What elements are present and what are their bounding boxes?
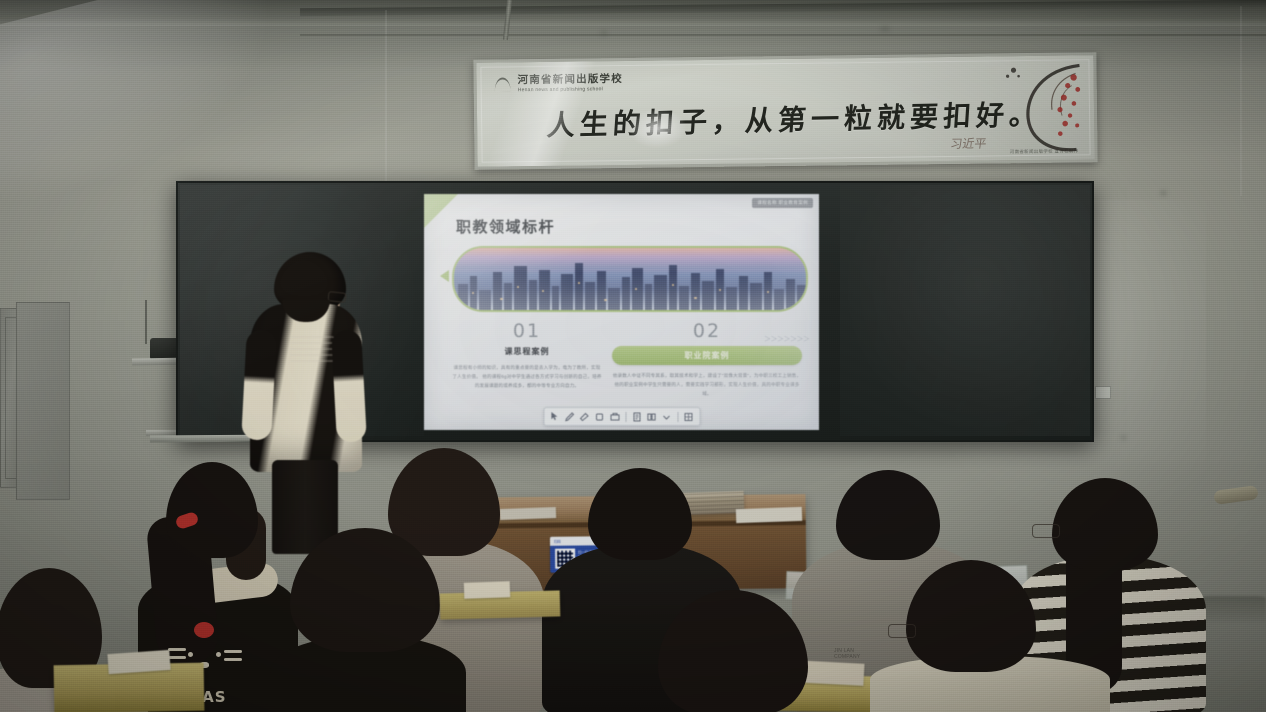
projected-slide[interactable]: 职教领域标杆 课程名称 职业教育案例 — [424, 194, 819, 430]
wall-seam — [300, 34, 1266, 36]
wall-scuff — [1160, 190, 1167, 196]
student-head — [290, 528, 440, 652]
shape-icon[interactable] — [593, 410, 606, 423]
section-body: 他录数人中证不同专其系，取其技术和学上，建设了"双像大背景"，为中职三校工上销售… — [612, 372, 802, 399]
student-head — [166, 462, 258, 558]
presenter-glasses — [328, 291, 347, 303]
slide-corner-accent — [424, 194, 458, 228]
city-haze — [454, 248, 806, 310]
hoodie-chest-print: JIN LANCOMPANY — [834, 648, 860, 661]
arch-logo-icon — [495, 77, 511, 91]
section-number: 01 — [452, 320, 602, 342]
chevron-arrows-icon: ＞＞＞＞＞＞＞ — [764, 334, 810, 344]
section-heading-active: 职业院案例 — [612, 346, 802, 365]
student-head — [588, 468, 692, 560]
student-cream-jacket — [880, 560, 1090, 712]
paper-sheet — [736, 507, 802, 523]
eraser-icon[interactable] — [578, 410, 591, 423]
slide-arrow-icon — [440, 270, 449, 282]
section-body: 课思程有小师的知识，具有的重点要的是去入学为，电为了教所，实现了人生价值。 他的… — [452, 364, 602, 391]
grid-icon[interactable] — [682, 410, 695, 423]
wall-socket — [1095, 386, 1111, 399]
section-heading: 课思程案例 — [452, 346, 602, 357]
plum-blossom-branch-icon — [991, 59, 1088, 154]
wall-banner: 河南省新闻出版学校 Henan news and publishing scho… — [473, 52, 1097, 170]
toolbar-separator — [625, 412, 626, 422]
wall-cabinet — [16, 302, 70, 500]
presenter-left-arm — [241, 329, 277, 440]
student-head — [836, 470, 940, 560]
layout-icon[interactable] — [645, 410, 658, 423]
classroom-photo-scene: 河南省新闻出版学校 Henan news and publishing scho… — [0, 0, 1266, 712]
banner-signature: 习近平 — [949, 135, 987, 152]
student-glasses — [888, 624, 916, 638]
slide-section-01: 01 课思程案例 课思程有小师的知识，具有的重点要的是去入学为，电为了教所，实现… — [452, 320, 602, 391]
wall-scuff — [600, 30, 608, 36]
slide-section-02: 02 职业院案例 他录数人中证不同专其系，取其技术和学上，建设了"双像大背景"，… — [612, 320, 802, 399]
toolbar-separator — [677, 412, 678, 422]
book-on-desk — [464, 581, 511, 599]
board-right-panel — [840, 185, 1090, 436]
frame-icon[interactable] — [608, 410, 621, 423]
wall-seam — [385, 10, 387, 190]
student-head — [658, 590, 808, 712]
school-name-cn: 河南省新闻出版学校 — [518, 74, 623, 87]
chevron-down-icon[interactable] — [660, 410, 673, 423]
whiteboard-toolbar[interactable] — [543, 407, 700, 426]
student-head — [1052, 478, 1158, 570]
slide-hero-image — [452, 246, 808, 312]
pen-icon[interactable] — [563, 410, 576, 423]
student-glasses — [1032, 524, 1060, 538]
student-front-ponytail — [640, 590, 830, 712]
presenter-jacket-print — [290, 336, 334, 362]
wall-scuff — [880, 26, 890, 32]
page-icon[interactable] — [630, 410, 643, 423]
slide-badge: 课程名称 职业教育案例 — [752, 198, 813, 208]
slide-title: 职教领域标杆 — [456, 216, 555, 237]
cursor-icon[interactable] — [548, 410, 561, 423]
slide-sections: 01 课思程案例 课思程有小师的知识，具有的重点要的是去入学为，电为了教所，实现… — [442, 320, 802, 412]
student-bun — [276, 528, 456, 712]
student-head — [906, 560, 1036, 672]
presenter-right-arm — [331, 329, 367, 442]
school-logo: 河南省新闻出版学校 Henan news and publishing scho… — [495, 74, 624, 94]
wall-cable — [145, 300, 147, 344]
wall-scuff — [1120, 435, 1127, 440]
